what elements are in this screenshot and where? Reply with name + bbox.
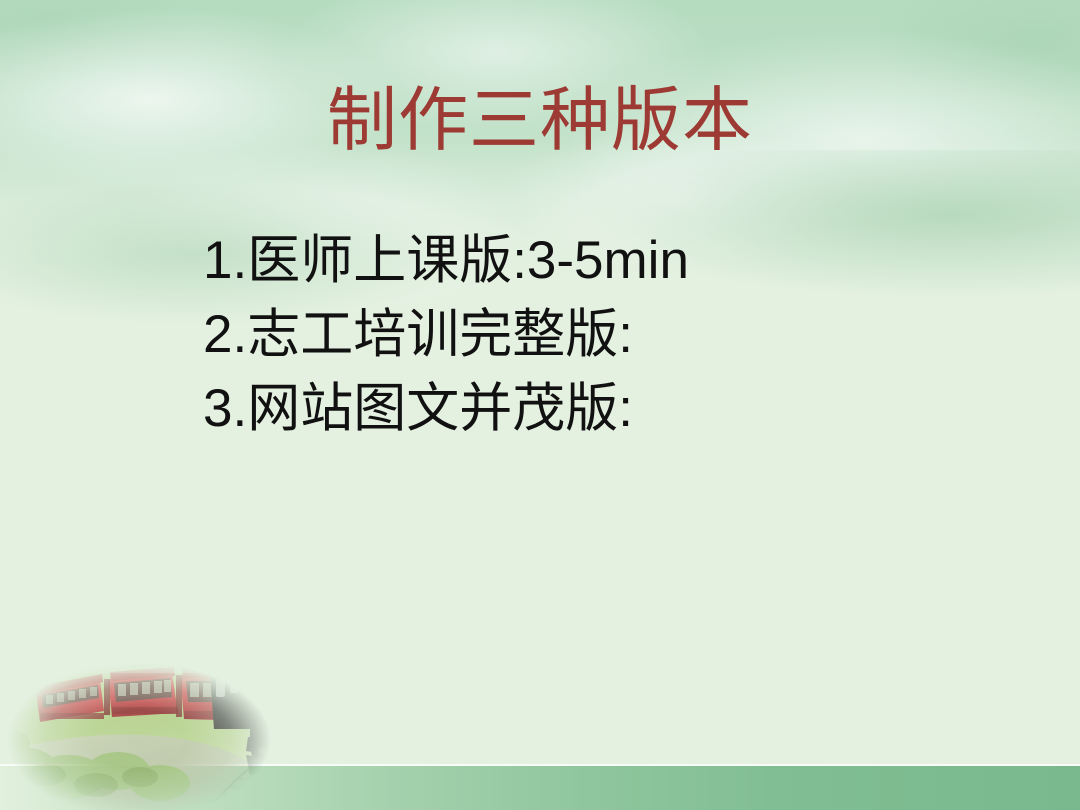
steam-train-photo bbox=[0, 625, 330, 810]
presentation-slide: 制作三种版本 1.医师上课版:3-5min 2.志工培训完整版: 3.网站图文并… bbox=[0, 0, 1080, 810]
slide-body-list: 1.医师上课版:3-5min 2.志工培训完整版: 3.网站图文并茂版: bbox=[203, 224, 963, 446]
list-item: 1.医师上课版:3-5min bbox=[203, 224, 963, 298]
slide-title: 制作三种版本 bbox=[0, 84, 1080, 158]
steam-train-illustration bbox=[0, 625, 330, 810]
list-item: 3.网站图文并茂版: bbox=[203, 372, 963, 446]
list-item: 2.志工培训完整版: bbox=[203, 298, 963, 372]
